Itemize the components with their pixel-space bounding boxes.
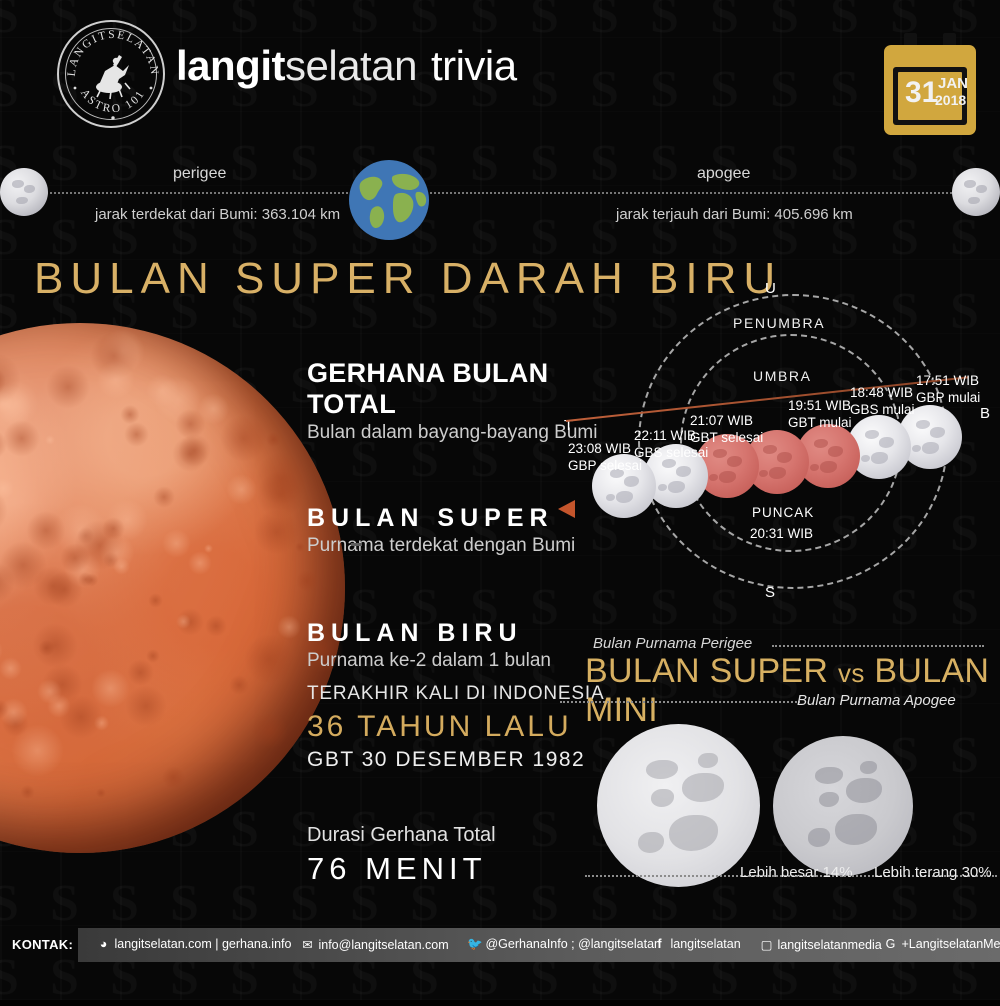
- super-moon-circle: [597, 724, 760, 887]
- penumbra-label: PENUMBRA: [733, 315, 825, 331]
- brighter-note: Lebih terang 30%: [874, 864, 992, 881]
- perigee-distance: jarak terdekat dari Bumi: 363.104 km: [95, 206, 340, 223]
- phase-event: GBS selesai: [634, 444, 708, 461]
- contact-label: KONTAK:: [12, 937, 73, 952]
- contact-footer: KONTAK: ◕ langitselatan.com | gerhana.in…: [0, 928, 1000, 962]
- umbra-label: UMBRA: [753, 368, 812, 384]
- phase-time: 18:48 WIB: [850, 384, 915, 401]
- email-icon: ✉: [300, 937, 315, 952]
- contact-website[interactable]: ◕ langitselatan.com | gerhana.info: [96, 937, 291, 951]
- orbit-distance-row: perigee apogee jarak terdekat dari Bumi:…: [0, 150, 1000, 260]
- orbit-dotted-line: [22, 192, 980, 194]
- calendar-year: 2018: [935, 93, 966, 107]
- brand-secondary: selatan: [285, 42, 417, 89]
- brand-primary: langit: [176, 42, 285, 89]
- phase-event: GBT selesai: [690, 429, 763, 446]
- phase-label: 19:51 WIB GBT mulai: [788, 397, 852, 432]
- phase-label: 23:08 WIB GBP selesai: [568, 440, 642, 475]
- super-vs-mini-section: Bulan Purnama Perigee BULAN SUPER vs BUL…: [560, 632, 1000, 902]
- phase-label: 18:48 WIB GBS mulai: [850, 384, 915, 419]
- apogee-distance: jarak terjauh dari Bumi: 405.696 km: [616, 206, 853, 223]
- twitter-icon: 🐦: [467, 937, 482, 952]
- earth-icon: [347, 158, 431, 242]
- phase-time: 19:51 WIB: [788, 397, 852, 414]
- axis-label-north: U: [765, 280, 776, 297]
- instagram-icon: ▢: [759, 937, 774, 952]
- phase-event: GBP selesai: [568, 457, 642, 474]
- langitselatan-logo-icon: LANGITSELATAN ASTRO 101: [57, 20, 165, 128]
- contact-facebook[interactable]: f langitselatan: [652, 937, 741, 951]
- phase-time: 17:51 WIB: [916, 372, 980, 389]
- compare-title: BULAN SUPER vs BULAN MINI: [585, 652, 1000, 730]
- divider-dash: [351, 543, 362, 546]
- phase-event: GBT mulai: [788, 414, 852, 431]
- axis-label-east: B: [980, 405, 990, 422]
- calendar-day: 31: [905, 78, 938, 108]
- header: LANGITSELATAN ASTRO 101 langitselatantri…: [0, 0, 1000, 150]
- phase-event: GBS mulai: [850, 401, 915, 418]
- apogee-label: apogee: [697, 165, 750, 183]
- page-title: langitselatantrivia: [176, 42, 517, 90]
- apogee-moon-icon: [952, 168, 1000, 216]
- eclipse-path-arrowhead: [558, 500, 575, 518]
- phase-time: 23:08 WIB: [568, 440, 642, 457]
- caption-dotted-line: [560, 701, 800, 703]
- calendar-month: JAN: [938, 76, 968, 91]
- facebook-icon: f: [652, 937, 667, 951]
- contact-googleplus[interactable]: G +LangitselatanMedia: [883, 937, 1000, 951]
- perigee-caption: Bulan Purnama Perigee: [593, 635, 752, 652]
- google-plus-icon: G: [883, 937, 898, 951]
- contact-twitter[interactable]: 🐦 @GerhanaInfo ; @langitselatan: [467, 937, 661, 952]
- phase-label: 21:07 WIB GBT selesai: [690, 412, 763, 447]
- rss-icon: ◕: [96, 937, 111, 951]
- caption-dotted-line: [772, 645, 984, 647]
- peak-time: 20:31 WIB: [750, 525, 813, 542]
- bigger-note: Lebih besar 14%: [740, 864, 853, 881]
- perigee-moon-icon: [0, 168, 48, 216]
- apogee-caption: Bulan Purnama Apogee: [797, 692, 956, 709]
- eclipse-path-diagram: PENUMBRA UMBRA U S T B 23:08 WIB GBP sel…: [540, 272, 1000, 617]
- contact-bar: ◕ langitselatan.com | gerhana.info ✉ inf…: [78, 928, 1000, 962]
- contact-instagram[interactable]: ▢ langitselatanmedia: [759, 937, 882, 952]
- mini-moon-circle: [773, 736, 913, 876]
- phase-time: 21:07 WIB: [690, 412, 763, 429]
- peak-label: PUNCAK: [752, 504, 814, 521]
- calendar-icon: 31 JAN 2018: [884, 33, 976, 135]
- axis-label-south: S: [765, 584, 775, 601]
- contact-email[interactable]: ✉ info@langitselatan.com: [300, 937, 449, 952]
- compare-title-a: BULAN SUPER: [585, 652, 828, 690]
- phase-label: 17:51 WIB GBP mulai: [916, 372, 980, 407]
- phase-event: GBP mulai: [916, 389, 980, 406]
- perigee-label: perigee: [173, 165, 226, 183]
- brand-suffix: trivia: [431, 42, 517, 89]
- compare-title-vs: vs: [838, 658, 865, 688]
